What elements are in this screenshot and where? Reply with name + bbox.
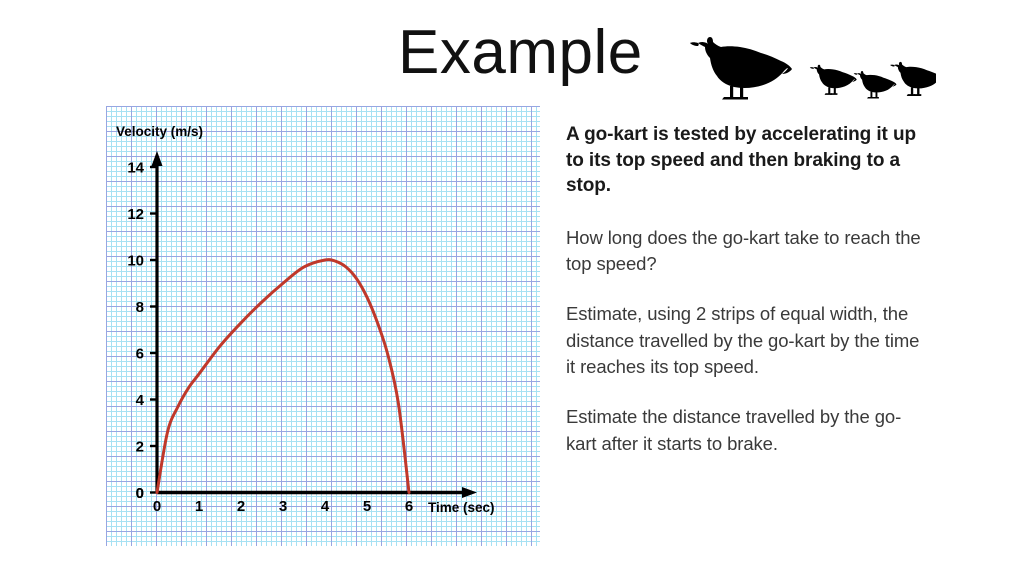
x-tick-0: 0	[153, 498, 161, 515]
y-tick-8: 8	[136, 299, 144, 316]
duckling-1-icon	[810, 65, 857, 95]
velocity-time-graph: Velocity (m/s) Time (sec) 0 2	[106, 106, 540, 546]
x-tick-5: 5	[363, 498, 371, 515]
question-2: Estimate, using 2 strips of equal width,…	[566, 301, 926, 380]
duck-family-icon	[686, 18, 936, 104]
y-tick-14: 14	[127, 160, 144, 177]
y-axis	[152, 151, 163, 493]
problem-statement: A go-kart is tested by accelerating it u…	[566, 122, 926, 199]
duckling-3-icon	[890, 62, 936, 96]
question-text-column: A go-kart is tested by accelerating it u…	[566, 122, 926, 457]
y-tick-10: 10	[127, 253, 144, 270]
x-axis	[157, 487, 477, 498]
y-tick-12: 12	[127, 206, 144, 223]
x-tick-2: 2	[237, 498, 245, 515]
origin-label: 0	[136, 485, 144, 502]
x-axis-tick-labels: 0 1 2 3 4 5 6	[153, 498, 413, 515]
page-title: Example	[398, 22, 643, 84]
mother-duck-icon	[690, 37, 792, 100]
question-3: Estimate the distance travelled by the g…	[566, 404, 926, 457]
question-1: How long does the go-kart take to reach …	[566, 225, 926, 278]
y-axis-tick-labels: 0 2 4 6 8 10 12 14	[127, 160, 144, 503]
x-axis-title: Time (sec)	[428, 500, 495, 515]
y-axis-title: Velocity (m/s)	[116, 124, 203, 139]
x-tick-1: 1	[195, 498, 203, 515]
velocity-curve	[157, 260, 409, 493]
y-tick-6: 6	[136, 346, 144, 363]
x-tick-3: 3	[279, 498, 287, 515]
y-tick-2: 2	[136, 439, 144, 456]
duckling-2-icon	[854, 71, 897, 99]
y-tick-4: 4	[136, 392, 145, 409]
x-tick-6: 6	[405, 498, 413, 515]
x-tick-4: 4	[321, 498, 330, 515]
